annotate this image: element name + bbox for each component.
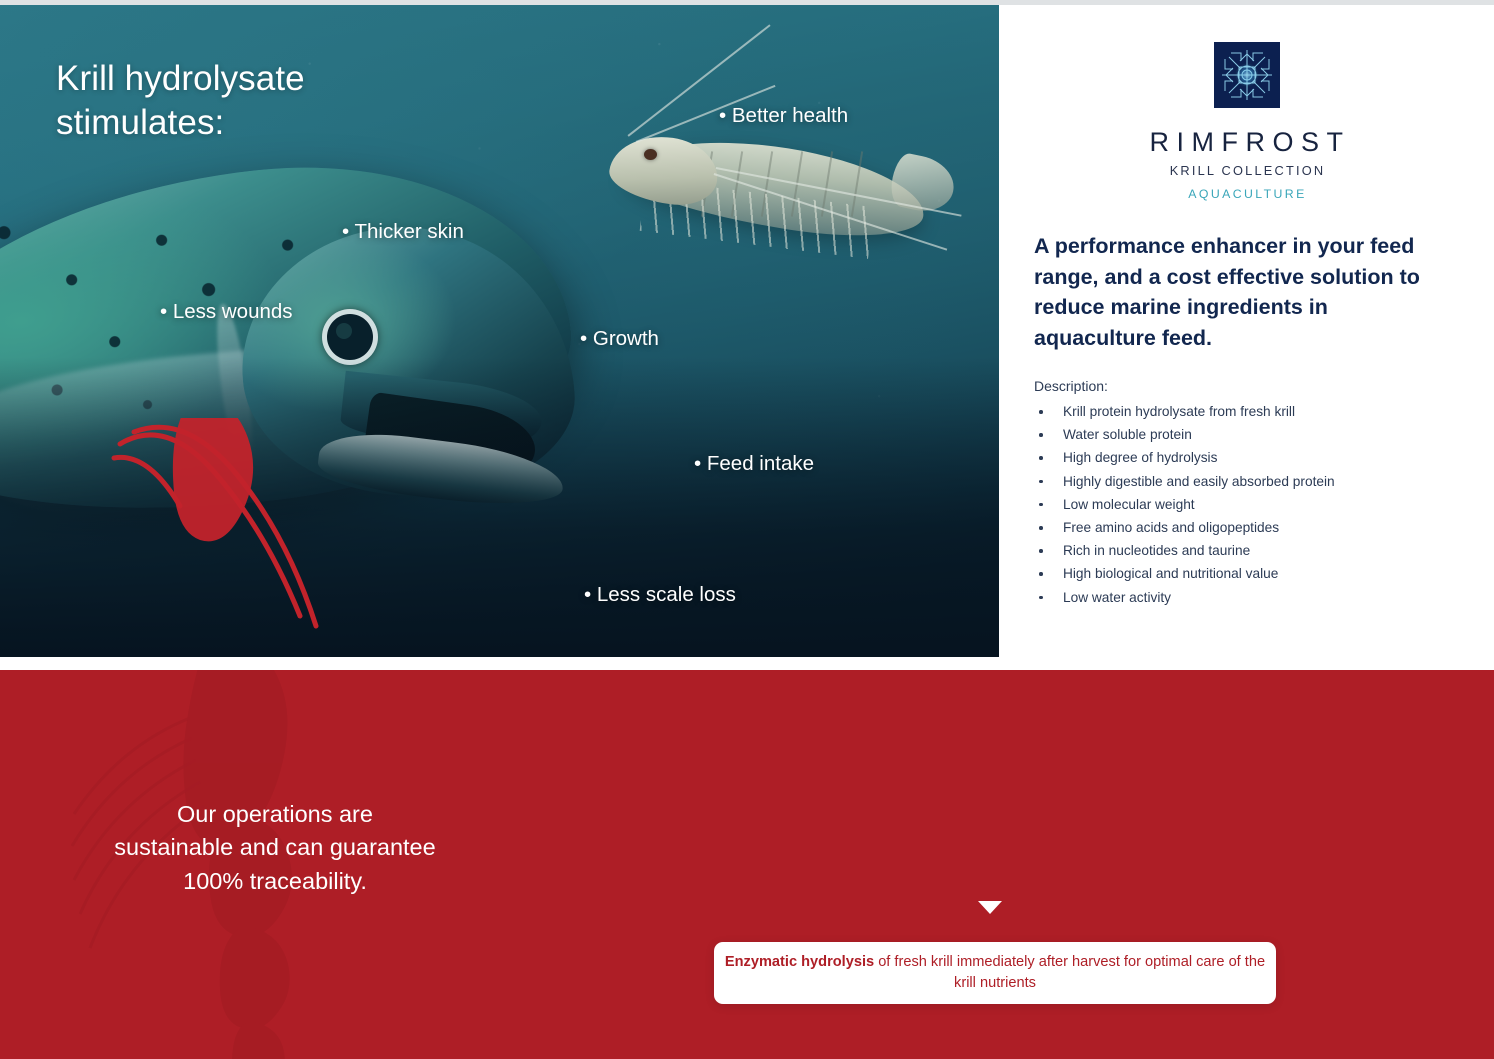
list-item: Water soluble protein <box>1034 423 1464 446</box>
list-item: Free amino acids and oligopeptides <box>1034 516 1464 539</box>
description-label: Description: <box>1034 378 1108 394</box>
callout-rest-text: of fresh krill immediately after harvest… <box>874 954 1265 991</box>
rimfrost-snowflake-logo-icon <box>1214 42 1280 108</box>
benefit-tag-less-scale-loss: • Less scale loss <box>584 583 736 607</box>
water-depth-gradient <box>0 357 999 657</box>
page-title-line-1: Krill hydrolysate <box>56 57 305 101</box>
product-headline: A performance enhancer in your feed rang… <box>1034 231 1434 354</box>
sustainability-line-3: 100% traceability. <box>60 865 490 898</box>
list-item: Rich in nucleotides and taurine <box>1034 539 1464 562</box>
brand-name: RIMFROST <box>999 127 1494 158</box>
flow-down-arrow-icon <box>978 901 1002 914</box>
list-item: Low molecular weight <box>1034 493 1464 516</box>
krill-photo <box>596 101 956 281</box>
sustainability-line-2: sustainable and can guarantee <box>60 831 490 864</box>
brand-segment: AQUACULTURE <box>999 187 1494 201</box>
hero-underwater-photo: Krill hydrolysate stimulates: • Better h… <box>0 5 999 657</box>
poster-page: Krill hydrolysate stimulates: • Better h… <box>0 0 1494 1059</box>
benefit-tag-less-wounds: • Less wounds <box>160 300 293 324</box>
callout-bold-text: Enzymatic hydrolysis <box>725 954 874 970</box>
sustainability-line-1: Our operations are <box>60 798 490 831</box>
benefit-tag-thicker-skin: • Thicker skin <box>342 220 464 244</box>
list-item: High degree of hydrolysis <box>1034 446 1464 469</box>
list-item: Krill protein hydrolysate from fresh kri… <box>1034 400 1464 423</box>
page-title: Krill hydrolysate stimulates: <box>56 57 305 146</box>
brand-subtitle: KRILL COLLECTION <box>999 163 1494 178</box>
brand-logo-block: RIMFROST KRILL COLLECTION AQUACULTURE <box>999 42 1494 201</box>
benefit-tag-better-health: • Better health <box>719 104 848 128</box>
list-item: Low water activity <box>1034 586 1464 609</box>
page-title-line-2: stimulates: <box>56 101 305 145</box>
product-info-panel: RIMFROST KRILL COLLECTION AQUACULTURE A … <box>999 5 1494 657</box>
list-item: High biological and nutritional value <box>1034 562 1464 585</box>
benefit-tag-feed-intake: • Feed intake <box>694 452 814 476</box>
benefit-tag-growth: • Growth <box>580 327 659 351</box>
enzymatic-hydrolysis-callout: Enzymatic hydrolysis of fresh krill imme… <box>714 942 1276 1004</box>
product-feature-list: Krill protein hydrolysate from fresh kri… <box>1034 400 1464 609</box>
sustainability-statement: Our operations are sustainable and can g… <box>60 798 490 898</box>
list-item: Highly digestible and easily absorbed pr… <box>1034 470 1464 493</box>
